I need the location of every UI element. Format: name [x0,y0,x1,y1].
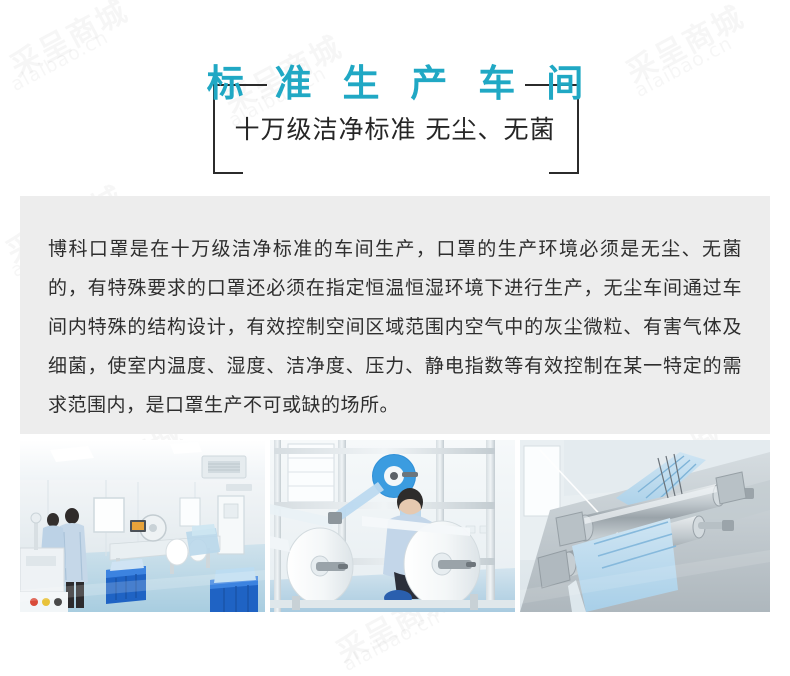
section-header: 标 准 生 产 车 间 十万级洁净标准 无尘、无菌 [0,40,790,160]
photo-mask-fabric-rollers-closeup [520,440,770,612]
fabric-rollers-illustration [520,440,770,612]
roll-feeding-machine-illustration [270,440,515,612]
description-body-text: 博科口罩是在十万级洁净标准的车间生产，口罩的生产环境必须是无尘、无菌的，有特殊要… [48,230,742,425]
bracket-bottom-right-horizontal [549,172,579,174]
page-subtitle: 十万级洁净标准 无尘、无菌 [0,114,790,146]
description-panel: 博科口罩是在十万级洁净标准的车间生产，口罩的生产环境必须是无尘、无菌的，有特殊要… [20,196,770,434]
photo-cleanroom-workshop-overview [20,440,265,612]
cleanroom-workshop-illustration [20,440,265,612]
page-title: 标 准 生 产 车 间 [0,62,790,106]
photo-strip [20,440,770,612]
photo-nonwoven-roll-feeding-machine [270,440,515,612]
bracket-bottom-left-horizontal [213,172,243,174]
watermark-text: alaibao.cn [339,606,444,676]
